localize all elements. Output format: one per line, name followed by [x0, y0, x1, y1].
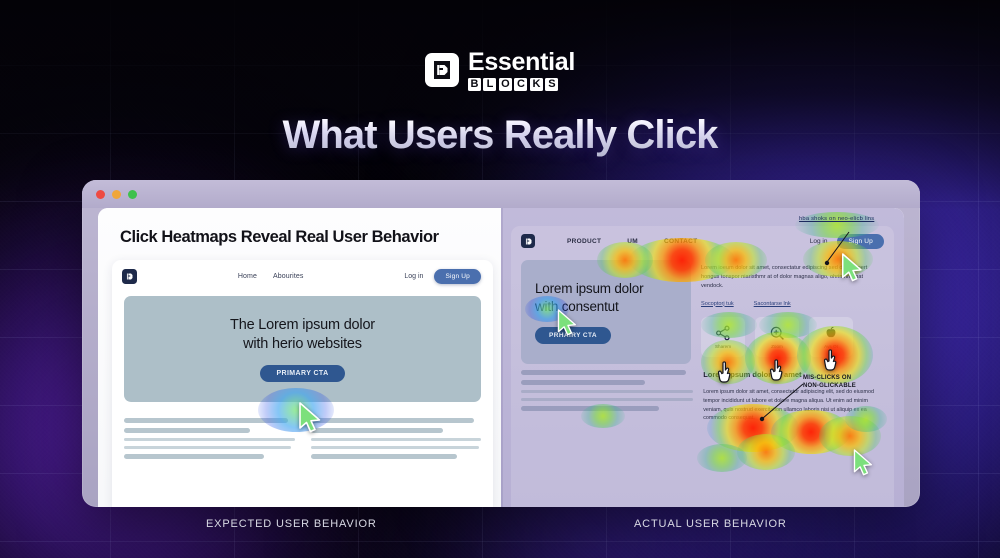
mis-clicks-line2: NON-GLICKABLE	[803, 383, 856, 389]
left-placeholder-content	[112, 402, 493, 459]
placeholder-bar	[124, 418, 288, 423]
right-mock-nav-links: PRODUCT UM CONTACT	[567, 238, 697, 245]
signup-button[interactable]: Sign Up	[837, 234, 884, 249]
high-clicks-note: hba shoks on neo-elicb lins	[799, 216, 897, 224]
icon-card-zoom[interactable]: Zoom	[755, 317, 799, 357]
brand-sub-letter: O	[499, 78, 512, 91]
inline-link-1[interactable]: Socoptorj tuk	[701, 301, 734, 307]
left-hero-line2: with herio websites	[243, 336, 362, 352]
brand-sub-letter: S	[545, 78, 558, 91]
right-body-row: Lorem ipsum dolor with consentut PRHAIRY…	[511, 256, 894, 364]
icon-card-apple[interactable]: Avs Ot	[809, 317, 853, 357]
brand-wordmark: Essential BLOCKS	[468, 50, 575, 91]
right-content-column: Lorem ioeum dolor sit amet, consectatur …	[701, 260, 884, 364]
nav-link-um[interactable]: UM	[627, 238, 638, 245]
placeholder-bar	[311, 438, 482, 441]
left-hero-section: The Lorem ipsum dolor with herio website…	[124, 296, 481, 402]
brand-sub-letter: C	[514, 78, 527, 91]
left-placeholder-column	[124, 418, 295, 459]
icon-card-label: Zoom	[771, 344, 783, 349]
right-placeholder-column	[521, 370, 693, 423]
right-hero-section: Lorem ipsum dolor with consentut PRHAIRY…	[521, 260, 691, 364]
inline-link-2[interactable]: Sacontarse lnk	[754, 301, 791, 307]
brand-sub-letter: B	[468, 78, 481, 91]
placeholder-bar	[521, 380, 645, 385]
minimize-amber-icon[interactable]	[112, 190, 121, 199]
right-hero-line1: Lorem ipsum dolor	[535, 281, 643, 296]
right-primary-cta-button[interactable]: PRHAIRY CTA	[535, 327, 611, 344]
placeholder-bar	[311, 428, 444, 433]
browser-window: Click Heatmaps Reveal Real User Behavior…	[82, 180, 920, 507]
close-red-icon[interactable]	[96, 190, 105, 199]
brand-mark-icon	[122, 269, 137, 284]
page-title: What Users Really Click	[0, 113, 1000, 158]
left-mock-nav-links: Home Abourites	[238, 273, 304, 280]
brand-sub-letter: K	[530, 78, 543, 91]
placeholder-bar	[311, 446, 480, 449]
right-inline-links: Socoptorj tuk Sacontarse lnk	[701, 301, 884, 307]
right-paragraph: Lorem ioeum dolor sit amet, consectatur …	[701, 264, 884, 292]
left-hero-heading: The Lorem ipsum dolor with herio website…	[230, 316, 375, 353]
zoom-in-icon	[769, 325, 785, 341]
login-link[interactable]: Log in	[810, 238, 828, 245]
maximize-green-icon[interactable]	[128, 190, 137, 199]
icon-card-share[interactable]: Sharem	[701, 317, 745, 357]
expected-behavior-panel: Click Heatmaps Reveal Real User Behavior…	[98, 208, 501, 507]
placeholder-bar	[521, 390, 693, 393]
left-mock-navbar: Home Abourites Log in Sign Up	[112, 260, 493, 292]
placeholder-bar	[521, 370, 686, 375]
nav-link-contact[interactable]: CONTACT	[664, 238, 697, 245]
placeholder-bar	[521, 398, 693, 401]
actual-mockup-stage: PRODUCT UM CONTACT Log in Sign Up Lore	[501, 208, 904, 507]
brand-logo: Essential BLOCKS	[0, 0, 1000, 91]
browser-viewport: Click Heatmaps Reveal Real User Behavior…	[98, 208, 904, 507]
placeholder-bar	[311, 418, 475, 423]
caption-actual: ACTUAL USER BEHAVIOR	[634, 518, 787, 530]
right-icon-cards: Sharem Zoom	[701, 317, 884, 357]
mis-clicks-line1: MIS-CLICKS ON	[803, 375, 851, 381]
apple-icon	[823, 325, 839, 341]
right-mock-navbar: PRODUCT UM CONTACT Log in Sign Up	[511, 226, 894, 256]
header: Essential BLOCKS What Users Really Click	[0, 0, 1000, 158]
login-link[interactable]: Log in	[404, 273, 423, 280]
placeholder-bar	[124, 438, 295, 441]
browser-titlebar	[82, 180, 920, 208]
actual-behavior-panel: PRODUCT UM CONTACT Log in Sign Up Lore	[501, 208, 904, 507]
nav-link-home[interactable]: Home	[238, 273, 257, 280]
nav-link-product[interactable]: PRODUCT	[567, 238, 601, 245]
placeholder-bar	[521, 406, 659, 411]
left-placeholder-column	[311, 418, 482, 459]
essential-blocks-mark-icon	[425, 53, 459, 87]
signup-button[interactable]: Sign Up	[434, 269, 481, 284]
icon-card-label: Sharem	[715, 344, 731, 349]
actual-mockup-card: PRODUCT UM CONTACT Log in Sign Up Lore	[511, 226, 894, 507]
icon-card-label: Avs Ot	[824, 344, 838, 349]
right-hero-line2: with consentut	[535, 299, 619, 314]
right-bottom-row: Lorem ipsum dolor sit amet Lorem ipsum d…	[511, 364, 894, 423]
brand-subword: BLOCKS	[468, 78, 575, 91]
placeholder-bar	[124, 446, 291, 449]
nav-link-abourites[interactable]: Abourites	[273, 273, 303, 280]
right-mock-nav-actions: Log in Sign Up	[810, 234, 884, 249]
share-icon	[715, 325, 731, 341]
caption-expected: EXPECTED USER BEHAVIOR	[206, 518, 377, 530]
placeholder-bar	[124, 428, 250, 433]
right-bottom-paragraph: Lorem ipsum dolor sit amet, consectetur …	[703, 388, 884, 423]
placeholder-bar	[311, 454, 458, 459]
left-primary-cta-button[interactable]: PRIMARY CTA	[260, 365, 344, 382]
left-hero-line1: The Lorem ipsum dolor	[230, 317, 375, 333]
left-mock-nav-actions: Log in Sign Up	[404, 269, 481, 284]
brand-mark-icon	[521, 234, 535, 248]
mis-clicks-note: MIS-CLICKS ON NON-GLICKABLE	[803, 374, 895, 390]
left-panel-heading: Click Heatmaps Reveal Real User Behavior	[112, 208, 487, 247]
brand-name: Essential	[468, 50, 575, 76]
right-hero-heading: Lorem ipsum dolor with consentut	[535, 280, 677, 315]
brand-sub-letter: L	[483, 78, 496, 91]
placeholder-bar	[124, 454, 264, 459]
panel-divider	[501, 208, 503, 507]
expected-mockup-card: Home Abourites Log in Sign Up The Lorem …	[112, 260, 493, 507]
